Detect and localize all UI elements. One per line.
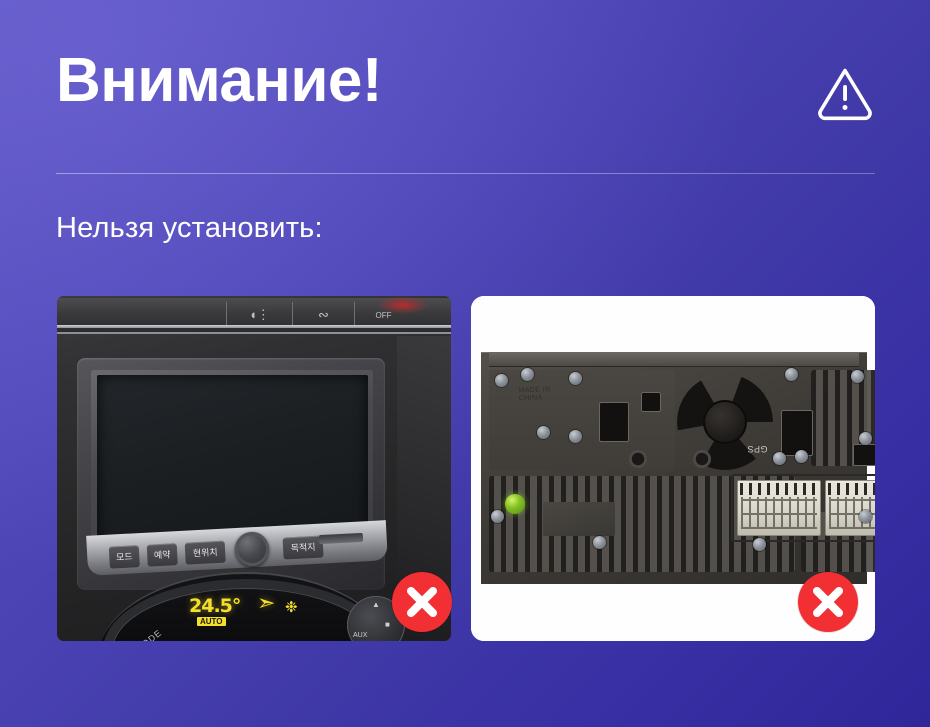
chassis-plate <box>543 502 615 536</box>
embossed-marking: MADE INCHINA <box>518 385 593 424</box>
button-destination-ko: 목적지 <box>283 536 324 560</box>
screw-13 <box>753 538 766 551</box>
button-mode-ko: 모드 <box>109 545 140 569</box>
wiring-connector-b <box>825 480 875 536</box>
head-unit-chassis: MADE INCHINA GPS <box>481 352 867 584</box>
red-cross-badge-right <box>798 572 858 632</box>
climate-auto-indicator: AUTO <box>197 617 226 626</box>
screw-10 <box>859 432 872 445</box>
warning-triangle-icon <box>816 63 874 121</box>
square-port <box>641 392 661 412</box>
rear-black-port <box>853 444 875 466</box>
screw-1 <box>495 374 508 387</box>
screw-4 <box>569 430 582 443</box>
fan-hub <box>703 400 747 444</box>
red-cross-badge-left <box>392 572 452 632</box>
screw-14 <box>859 510 872 523</box>
gps-port-label: GPS <box>747 444 768 454</box>
gps-port <box>781 410 813 456</box>
climate-temperature-readout: 24.5° <box>189 595 240 617</box>
screw-7 <box>851 370 864 383</box>
page-title: Внимание! <box>56 50 382 112</box>
wiring-connector-a <box>737 480 821 536</box>
header-divider <box>56 173 875 174</box>
section-subtitle: Нельзя установить: <box>56 212 323 245</box>
screw-2 <box>521 368 534 381</box>
mount-hole-2 <box>693 450 711 468</box>
screw-9 <box>795 450 808 463</box>
mount-hole-1 <box>629 450 647 468</box>
airflow-direction-icon: ➣ <box>257 590 275 616</box>
fan-speed-icon: ❉ <box>285 598 298 616</box>
button-reserve-ko: 예약 <box>147 543 178 567</box>
screw-11 <box>491 510 504 523</box>
warning-slide: Внимание! Нельзя установить: ◖⋮ ∾ OFF <box>0 0 930 727</box>
screw-12 <box>593 536 606 549</box>
antenna-port <box>599 402 629 442</box>
button-current-location-ko: 현위치 <box>185 541 226 565</box>
screw-5 <box>569 372 582 385</box>
screw-8 <box>773 452 786 465</box>
screw-6 <box>785 368 798 381</box>
screw-3 <box>537 426 550 439</box>
volume-knob <box>235 532 269 566</box>
red-reflection <box>377 296 429 314</box>
aux-label: AUX <box>353 632 367 639</box>
green-indicator <box>505 494 525 514</box>
